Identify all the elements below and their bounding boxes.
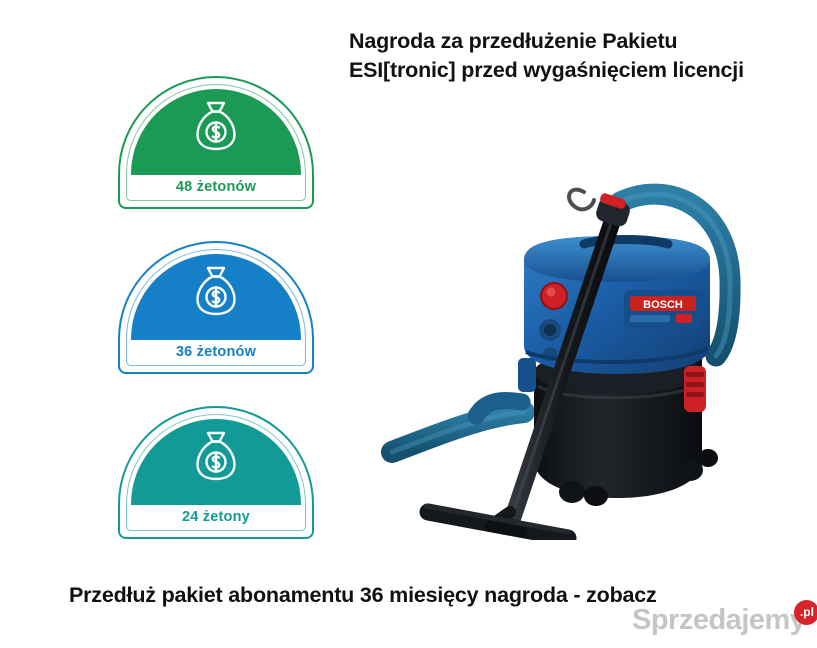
reward-badge[interactable]: 48 żetonów (118, 76, 314, 209)
product-image-vacuum-cleaner: BOSCH (372, 140, 772, 540)
reward-badge[interactable]: 24 żetony (118, 406, 314, 539)
badge-label: 24 żetony (120, 509, 312, 525)
badge-shell: 36 żetonów (118, 241, 314, 374)
reward-badge-list: 48 żetonów 36 żetonów (118, 76, 314, 571)
badge-label: 48 żetonów (120, 179, 312, 195)
money-bag-icon (193, 265, 239, 317)
watermark-text: Sprzedajemy (632, 604, 805, 637)
watermark-tld-badge: .pl (794, 600, 817, 625)
badge-shell: 48 żetonów (118, 76, 314, 209)
money-bag-icon (193, 430, 239, 482)
page-title: Nagroda za przedłużenie Pakietu ESI[tron… (349, 27, 749, 86)
reward-badge[interactable]: 36 żetonów (118, 241, 314, 374)
money-bag-icon (193, 100, 239, 152)
badge-shell: 24 żetony (118, 406, 314, 539)
svg-text:BOSCH: BOSCH (643, 299, 683, 311)
promo-banner: Nagroda za przedłużenie Pakietu ESI[tron… (0, 0, 817, 648)
badge-label: 36 żetonów (120, 344, 312, 360)
watermark: Sprzedajemy .pl (632, 598, 817, 642)
promo-caption: Przedłuż pakiet abonamentu 36 miesięcy n… (69, 583, 657, 608)
